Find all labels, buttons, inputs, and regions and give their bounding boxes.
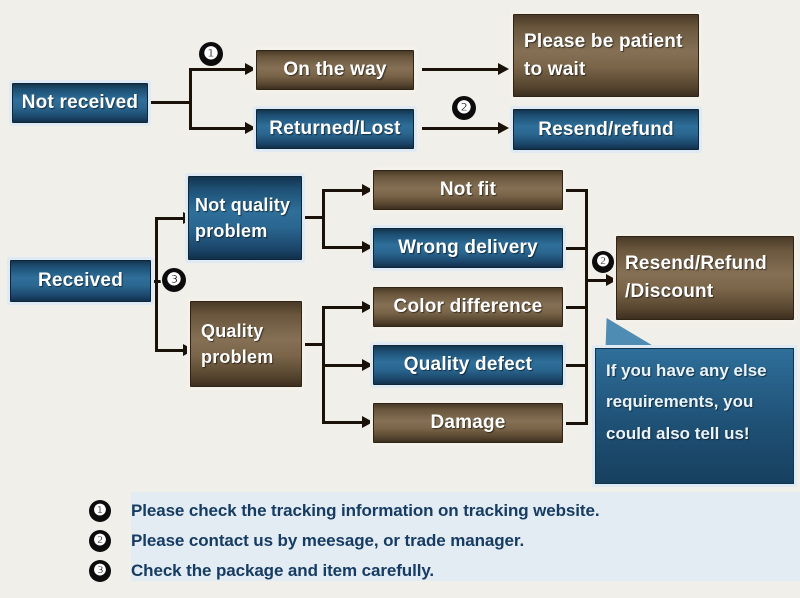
connector-nqp-to-wrong-delivery	[322, 246, 364, 249]
speech-bubble-line-2: requirements, you	[606, 392, 753, 411]
legend-item-2: ❷ Please contact us by meesage, or trade…	[89, 530, 524, 552]
node-returned-lost[interactable]: Returned/Lost	[256, 109, 414, 149]
node-quality-defect[interactable]: Quality defect	[373, 345, 563, 385]
arrowhead-to-damage	[362, 416, 373, 428]
connector-nqp-to-not-fit	[322, 189, 364, 192]
connector-nqp-split	[322, 189, 325, 248]
node-not-quality-problem-label-1: Not quality	[189, 192, 290, 218]
node-on-the-way[interactable]: On the way	[256, 50, 414, 90]
node-color-difference-label: Color difference	[374, 293, 562, 321]
arrowhead-to-color-difference	[362, 301, 373, 313]
connector-qp-to-damage	[322, 421, 364, 424]
node-color-difference[interactable]: Color difference	[373, 287, 563, 327]
connector-on-the-way-to-wait	[422, 68, 500, 71]
node-quality-problem-label-1: Quality	[191, 318, 263, 344]
speech-bubble-line-3: could also tell us!	[606, 424, 750, 443]
badge-marker-2-top: ❷	[452, 96, 476, 120]
legend-badge-2: ❷	[89, 530, 111, 552]
connector-received-split	[155, 217, 158, 352]
node-returned-lost-label: Returned/Lost	[257, 115, 413, 143]
connector-returned-to-resend	[422, 127, 500, 130]
arrowhead-to-returned-lost	[245, 122, 256, 134]
node-not-fit[interactable]: Not fit	[373, 170, 563, 210]
node-please-be-patient[interactable]: Please be patient to wait	[513, 14, 699, 97]
node-wrong-delivery-label: Wrong delivery	[374, 234, 562, 262]
node-damage-label: Damage	[374, 409, 562, 437]
legend-item-1: ❶ Please check the tracking information …	[89, 500, 599, 522]
node-received[interactable]: Received	[10, 260, 151, 302]
legend-badge-1: ❶	[89, 500, 111, 522]
arrowhead-to-resend-refund	[498, 122, 509, 134]
connector-qp-to-color-difference	[322, 306, 364, 309]
badge-marker-3-left: ❸	[162, 268, 186, 292]
node-resend-refund-discount-label-2: /Discount	[617, 278, 713, 306]
node-damage[interactable]: Damage	[373, 403, 563, 443]
legend-badge-3: ❸	[89, 560, 111, 582]
speech-bubble-extra-requirements[interactable]: If you have any else requirements, you c…	[595, 348, 794, 484]
connector-not-received-stem	[150, 101, 192, 104]
legend-text-2: Please contact us by meesage, or trade m…	[131, 531, 524, 551]
legend-item-3: ❸ Check the package and item carefully.	[89, 560, 434, 582]
arrowhead-to-quality-defect	[362, 359, 373, 371]
arrowhead-to-not-fit	[362, 184, 373, 196]
connector-to-on-the-way	[189, 68, 247, 71]
node-resend-refund-label: Resend/refund	[514, 116, 698, 144]
node-not-quality-problem[interactable]: Not quality problem	[188, 176, 302, 260]
node-resend-refund-discount-label-1: Resend/Refund	[617, 250, 767, 278]
node-not-received[interactable]: Not received	[12, 83, 148, 123]
node-resend-refund[interactable]: Resend/refund	[513, 109, 699, 150]
arrowhead-to-on-the-way	[245, 63, 256, 75]
node-not-fit-label: Not fit	[374, 176, 562, 204]
badge-marker-2-right: ❷	[592, 251, 614, 273]
arrowhead-to-wrong-delivery	[362, 241, 373, 253]
badge-marker-1-top: ❶	[199, 42, 223, 66]
node-please-be-patient-label-2: to wait	[514, 56, 586, 84]
node-wrong-delivery[interactable]: Wrong delivery	[373, 228, 563, 268]
speech-bubble-line-1: If you have any else	[606, 361, 767, 380]
node-received-label: Received	[11, 267, 150, 295]
legend-text-1: Please check the tracking information on…	[131, 501, 599, 521]
speech-bubble-tail	[605, 318, 664, 352]
connector-qp-to-quality-defect	[322, 364, 364, 367]
node-quality-defect-label: Quality defect	[374, 351, 562, 379]
flowchart-canvas: Not received ❶ On the way Returned/Lost …	[0, 0, 800, 598]
node-resend-refund-discount[interactable]: Resend/Refund /Discount	[616, 236, 794, 320]
connector-to-returned-lost	[189, 127, 247, 130]
node-please-be-patient-label-1: Please be patient	[514, 28, 683, 56]
node-quality-problem[interactable]: Quality problem	[190, 301, 302, 387]
node-quality-problem-label-2: problem	[191, 344, 273, 370]
node-not-received-label: Not received	[13, 89, 147, 117]
node-on-the-way-label: On the way	[257, 56, 413, 84]
legend-text-3: Check the package and item carefully.	[131, 561, 434, 581]
node-not-quality-problem-label-2: problem	[189, 218, 267, 244]
arrowhead-to-please-wait	[498, 63, 509, 75]
connector-not-received-split	[189, 68, 192, 130]
connector-merge-bus	[585, 189, 588, 425]
